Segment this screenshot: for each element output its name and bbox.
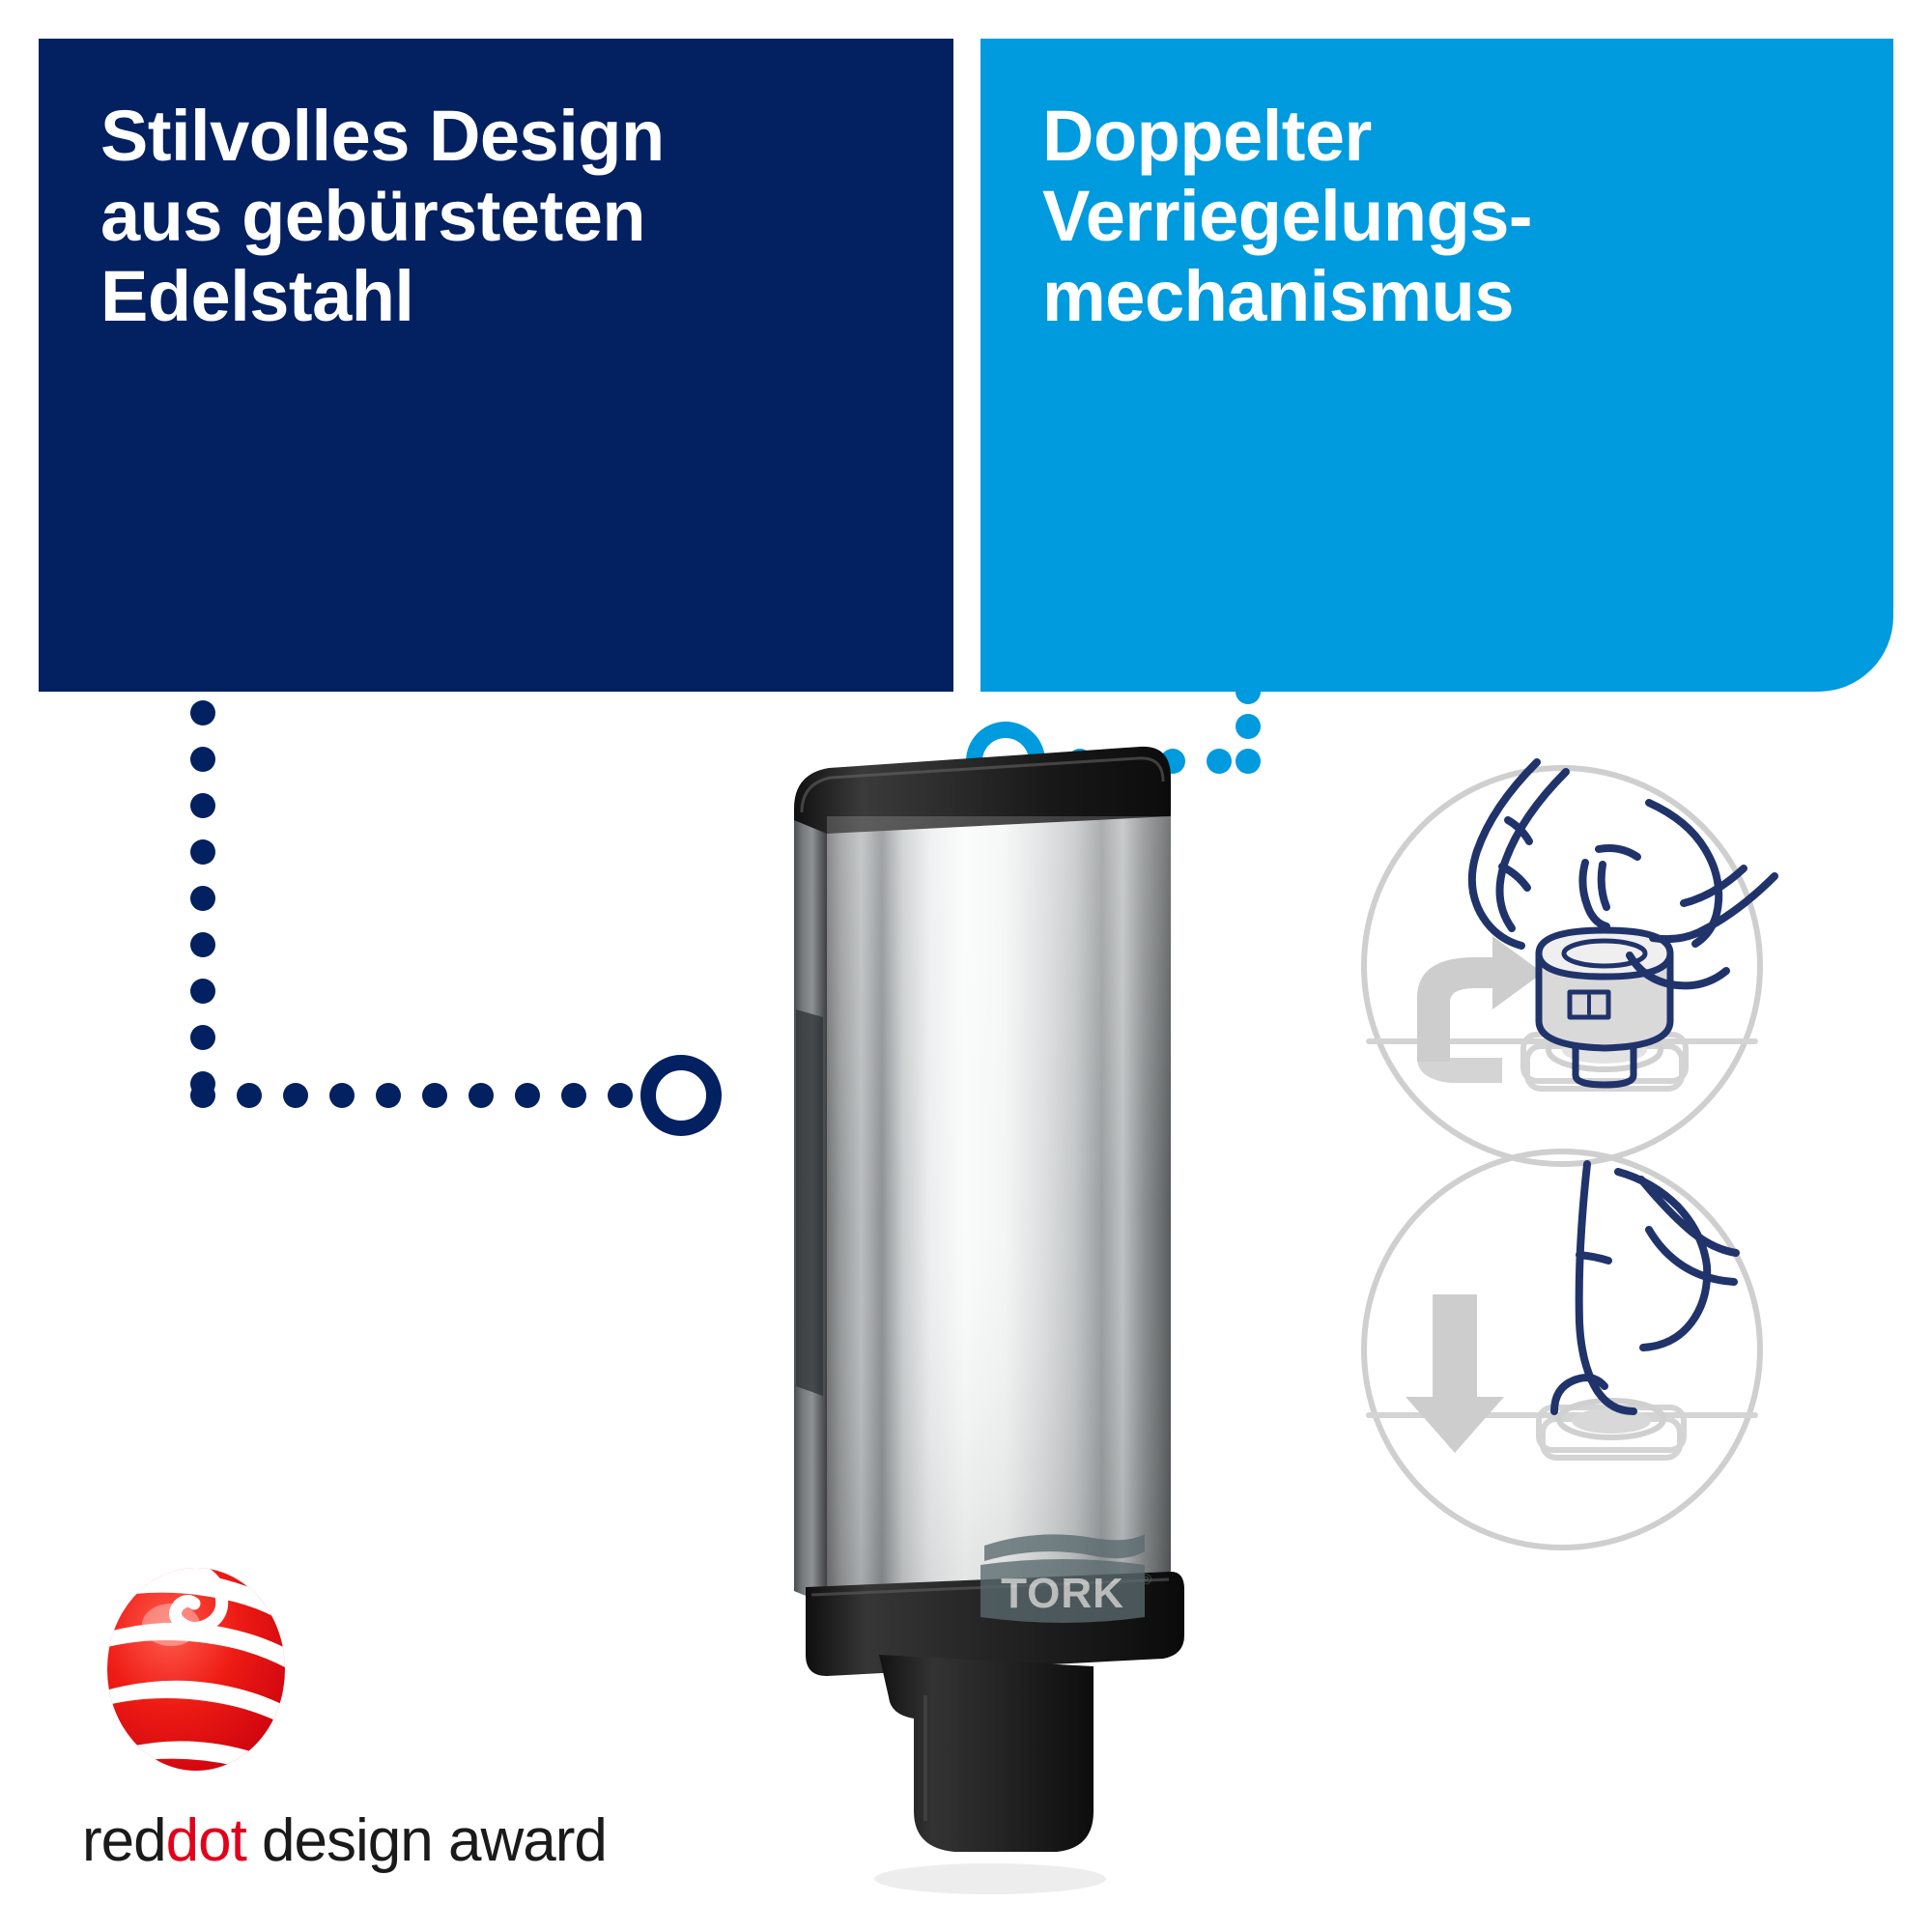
illustration-press-circle-frame bbox=[1364, 1151, 1760, 1548]
feature-panel-design: Stilvolles Design aus gebürsteten Edelst… bbox=[39, 39, 953, 692]
lock-illustration-group bbox=[1309, 749, 1811, 1560]
reddot-word-dot: dot bbox=[166, 1807, 246, 1874]
feature-panel-lock-title: Doppelter Verriegelungs- mechanismus bbox=[1042, 97, 1839, 337]
reddot-word-red: red bbox=[82, 1807, 166, 1874]
connector-ring-design bbox=[640, 1055, 722, 1136]
reddot-word-design-award: design award bbox=[246, 1807, 607, 1874]
tork-logo-registered-mark: ® bbox=[1141, 1572, 1151, 1588]
illustration-twist-lock bbox=[1364, 762, 1775, 1164]
feature-panel-lock: Doppelter Verriegelungs- mechanismus bbox=[980, 39, 1893, 692]
product-image-dispenser: TORK ® bbox=[734, 720, 1236, 1903]
reddot-award-logo: reddot design award bbox=[82, 1546, 623, 1903]
dispenser-push-lever[interactable] bbox=[879, 1655, 1094, 1852]
tork-logo: TORK ® bbox=[980, 1534, 1151, 1623]
dispenser-side-window bbox=[796, 1009, 823, 1396]
feature-panel-design-title: Stilvolles Design aus gebürsteten Edelst… bbox=[100, 97, 899, 337]
illustration-press-finger bbox=[1554, 1164, 1736, 1411]
illustration-press-lock bbox=[1364, 1151, 1760, 1548]
tork-logo-wordmark: TORK bbox=[1001, 1570, 1124, 1617]
down-arrow-icon bbox=[1406, 1294, 1504, 1453]
dispenser-body-brush-overlay bbox=[827, 816, 1171, 1605]
reddot-award-wordmark: reddot design award bbox=[82, 1806, 623, 1875]
dispenser-shadow bbox=[874, 1863, 1106, 1894]
reddot-globe-highlight bbox=[142, 1604, 200, 1646]
